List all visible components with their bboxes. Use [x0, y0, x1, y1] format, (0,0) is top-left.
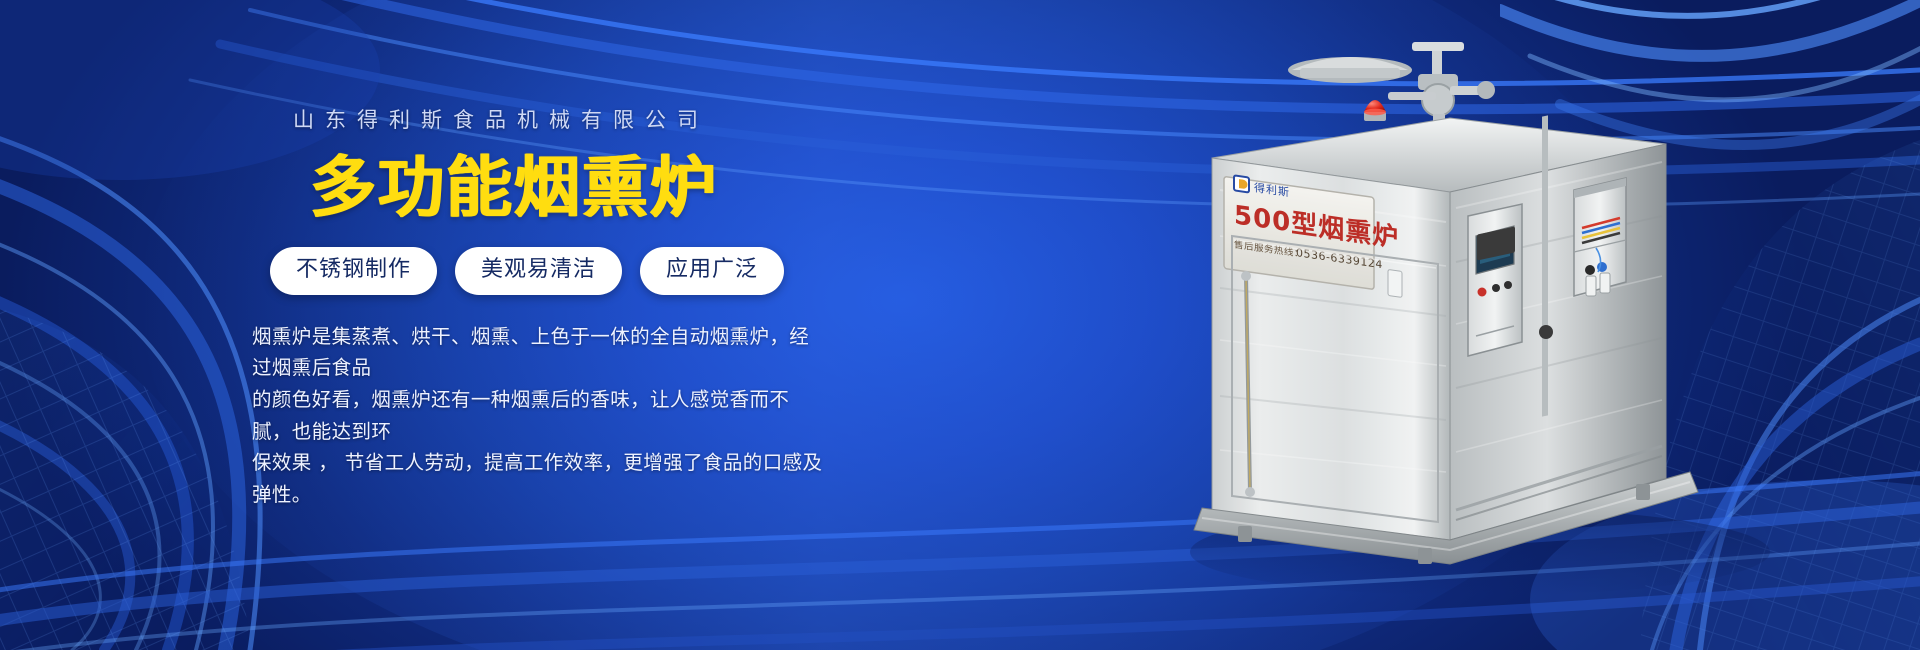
description-line-3: 保效果 ， 节省工人劳动，提高工作效率，更增强了食品的口感及弹性。: [252, 447, 824, 510]
alarm-beacon-icon: [1364, 100, 1386, 121]
feature-pill-wide-use[interactable]: 应用广泛: [640, 247, 784, 295]
control-panel: [1468, 204, 1522, 356]
banner-text-block: 山东得利斯食品机械有限公司 多功能烟熏炉 不锈钢制作 美观易清洁 应用广泛 烟熏…: [244, 104, 864, 510]
product-description: 烟熏炉是集蒸煮、烘干、烟熏、上色于一体的全自动烟熏炉，经过烟熏后食品 的颜色好看…: [252, 321, 824, 510]
feature-pill-easy-clean[interactable]: 美观易清洁: [455, 247, 622, 295]
feature-pill-row: 不锈钢制作 美观易清洁 应用广泛: [270, 247, 864, 295]
description-line-1: 烟熏炉是集蒸煮、烘干、烟熏、上色于一体的全自动烟熏炉，经过烟熏后食品: [252, 321, 824, 384]
cabinet-plug-2: [1600, 273, 1610, 293]
company-name: 山东得利斯食品机械有限公司: [282, 104, 864, 134]
panel-button-black: [1492, 284, 1500, 292]
product-banner: 山东得利斯食品机械有限公司 多功能烟熏炉 不锈钢制作 美观易清洁 应用广泛 烟熏…: [0, 0, 1920, 650]
feature-pill-stainless[interactable]: 不锈钢制作: [270, 247, 437, 295]
description-line-2: 的颜色好看，烟熏炉还有一种烟熏后的香味，让人感觉香而不腻，也能达到环: [252, 384, 824, 447]
product-photo: 得利斯 500型烟熏炉 售后服务热线： 0536-6339124: [1150, 40, 1870, 620]
cabinet-plug-1: [1586, 276, 1596, 296]
panel-button-red: [1478, 288, 1487, 297]
panel-button-black-2: [1504, 281, 1512, 289]
page-title: 多功能烟熏炉: [310, 154, 864, 221]
cabinet-connector-1: [1585, 265, 1595, 275]
top-vent-icon: [1288, 57, 1412, 83]
side-cabinet: [1574, 178, 1626, 296]
